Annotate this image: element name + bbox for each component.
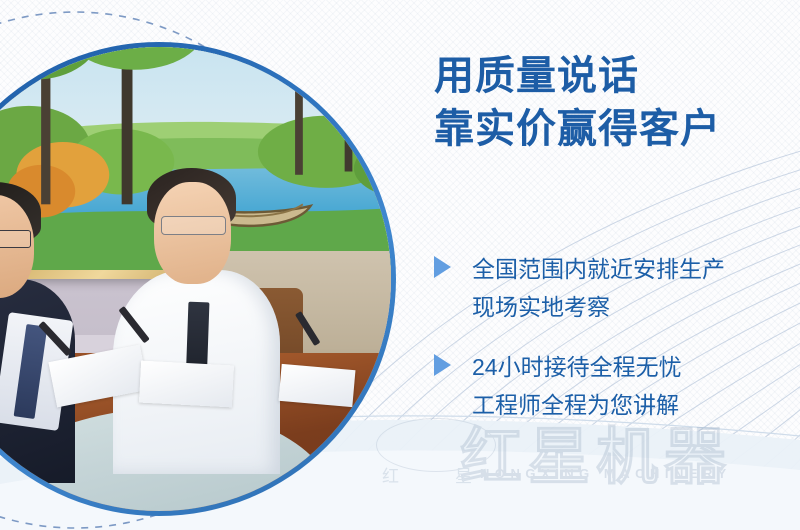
bullet-item-1: 全国范围内就近安排生产 现场实地考察 — [430, 250, 800, 326]
bullet-1-line-2: 现场实地考察 — [472, 288, 800, 326]
headline-line-2: 靠实价赢得客户 — [434, 103, 721, 156]
person-left-glasses — [0, 230, 31, 248]
bullet-1-line-1: 全国范围内就近安排生产 — [472, 250, 800, 288]
person-right-glasses — [161, 216, 226, 235]
photo-scene — [0, 47, 391, 511]
headline: 用质量说话 靠实价赢得客户 — [434, 50, 721, 156]
arrow-right-icon — [434, 354, 451, 376]
banner-stage: 用质量说话 靠实价赢得客户 全国范围内就近安排生产 现场实地考察 24小时接待全… — [0, 0, 800, 530]
watermark: 红星机器 红星 HONGXING MACHINERY — [372, 404, 792, 514]
contract-paper — [139, 360, 234, 407]
arrow-right-icon — [434, 256, 451, 278]
bullet-2-line-1: 24小时接待全程无忧 — [472, 348, 800, 386]
contract-paper — [278, 364, 355, 407]
meeting-photo — [0, 47, 391, 511]
watermark-brand-en: HONGXING MACHINERY — [480, 466, 732, 481]
headline-line-1: 用质量说话 — [434, 54, 639, 98]
photo-circle-ring — [0, 42, 396, 516]
